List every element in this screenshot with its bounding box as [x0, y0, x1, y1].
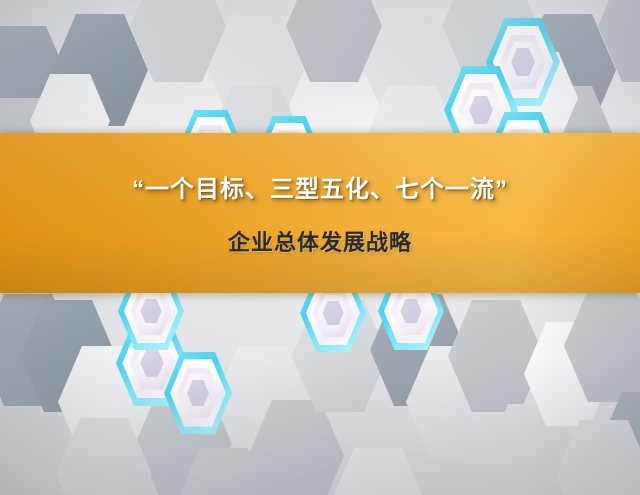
title-banner: “一个目标、三型五化、七个一流” 企业总体发展战略 [0, 133, 640, 293]
presentation-title-slide: “一个目标、三型五化、七个一流” 企业总体发展战略 [0, 0, 640, 495]
slide-subtitle: 企业总体发展战略 [0, 229, 640, 257]
slide-title: “一个目标、三型五化、七个一流” [0, 165, 640, 215]
